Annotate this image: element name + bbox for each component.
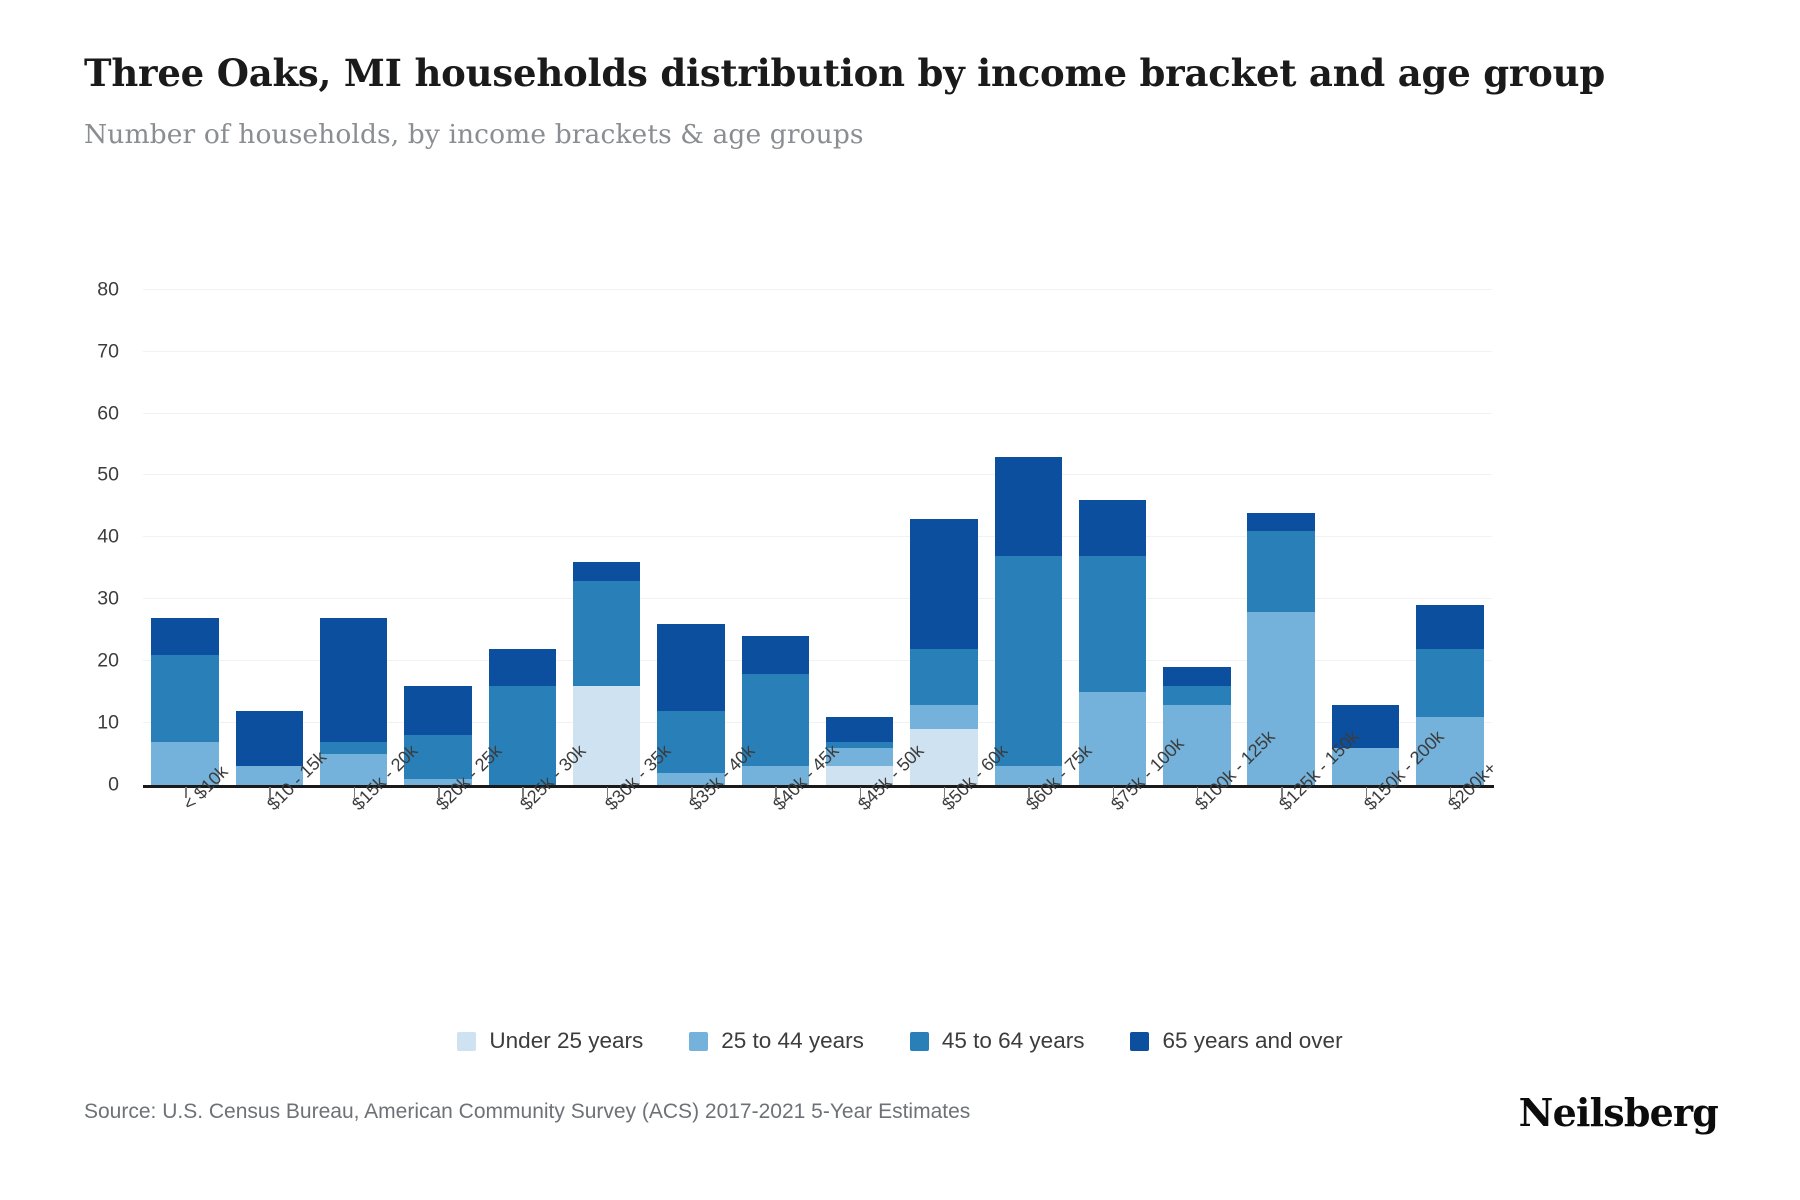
x-axis-tick-label: $50k - 60k bbox=[938, 800, 953, 815]
x-axis-tick-label: $25k - 30k bbox=[516, 800, 531, 815]
legend-label: 45 to 64 years bbox=[942, 1028, 1085, 1054]
bar-segment[interactable] bbox=[573, 562, 640, 581]
legend-item[interactable]: Under 25 years bbox=[457, 1028, 643, 1054]
x-axis-tick-label: $60k - 75k bbox=[1022, 800, 1037, 815]
bar-segment[interactable] bbox=[1247, 531, 1314, 611]
bar-segment[interactable] bbox=[1247, 513, 1314, 532]
chart-legend: Under 25 years25 to 44 years45 to 64 yea… bbox=[0, 1028, 1800, 1054]
y-axis-tick-labels: 01020304050607080 bbox=[0, 265, 135, 785]
bar-segment[interactable] bbox=[573, 581, 640, 686]
bar-segment[interactable] bbox=[1163, 686, 1230, 705]
bar-segment[interactable] bbox=[910, 519, 977, 649]
chart-subtitle: Number of households, by income brackets… bbox=[84, 119, 1704, 150]
brand-logo: Neilsberg bbox=[1519, 1090, 1718, 1135]
y-axis-tick-label: 50 bbox=[97, 464, 119, 487]
bar-segment[interactable] bbox=[151, 618, 218, 655]
bar-segment[interactable] bbox=[320, 742, 387, 754]
legend-swatch-icon bbox=[457, 1032, 476, 1051]
bar-segment[interactable] bbox=[910, 649, 977, 705]
bar-group[interactable] bbox=[1079, 500, 1146, 785]
x-axis-tick-label: $40k - 45k bbox=[769, 800, 784, 815]
legend-swatch-icon bbox=[1130, 1032, 1149, 1051]
bar-segment[interactable] bbox=[826, 742, 893, 748]
legend-swatch-icon bbox=[910, 1032, 929, 1051]
bar-segment[interactable] bbox=[657, 711, 724, 773]
y-axis-tick-label: 30 bbox=[97, 588, 119, 611]
bar-segment[interactable] bbox=[826, 717, 893, 742]
y-axis-tick-label: 80 bbox=[97, 278, 119, 301]
bar-segment[interactable] bbox=[1416, 649, 1483, 717]
bar-segment[interactable] bbox=[742, 636, 809, 673]
source-note: Source: U.S. Census Bureau, American Com… bbox=[84, 1100, 970, 1124]
x-axis-tick-label: $45k - 50k bbox=[854, 800, 869, 815]
bar-group[interactable] bbox=[1163, 667, 1230, 785]
bar-group[interactable] bbox=[151, 618, 218, 785]
x-axis-tick-labels: < $10k$10 - 15k$15k - 20k$20k - 25k$25k … bbox=[143, 800, 1494, 920]
y-axis-tick-label: 0 bbox=[108, 774, 119, 797]
x-axis-tick-label: $35k - 40k bbox=[685, 800, 700, 815]
x-axis-tick-label: $15k - 20k bbox=[348, 800, 363, 815]
bar-segment[interactable] bbox=[320, 618, 387, 742]
legend-item[interactable]: 45 to 64 years bbox=[910, 1028, 1085, 1054]
y-axis-tick-label: 10 bbox=[97, 712, 119, 735]
y-axis-tick-label: 40 bbox=[97, 526, 119, 549]
bar-segment[interactable] bbox=[404, 686, 471, 736]
x-axis-tick-label: $10 - 15k bbox=[263, 800, 278, 815]
bar-group[interactable] bbox=[489, 649, 556, 785]
bar-series-container bbox=[143, 265, 1492, 785]
bar-segment[interactable] bbox=[995, 556, 1062, 766]
legend-swatch-icon bbox=[689, 1032, 708, 1051]
bar-segment[interactable] bbox=[1079, 556, 1146, 692]
legend-label: Under 25 years bbox=[489, 1028, 643, 1054]
x-axis-tick-label: $200k+ bbox=[1444, 800, 1459, 815]
bar-segment[interactable] bbox=[995, 457, 1062, 556]
bar-group[interactable] bbox=[320, 618, 387, 785]
x-axis-tick-label: $20k - 25k bbox=[432, 800, 447, 815]
bar-group[interactable] bbox=[742, 636, 809, 785]
bar-segment[interactable] bbox=[657, 624, 724, 711]
bar-segment[interactable] bbox=[151, 655, 218, 742]
y-axis-tick-label: 20 bbox=[97, 650, 119, 673]
bar-group[interactable] bbox=[910, 519, 977, 785]
x-axis-tick-label: $30k - 35k bbox=[601, 800, 616, 815]
x-axis-tick-label: < $10k bbox=[179, 800, 194, 815]
page-title: Three Oaks, MI households distribution b… bbox=[84, 50, 1654, 97]
y-axis-tick-label: 60 bbox=[97, 402, 119, 425]
bar-segment[interactable] bbox=[489, 649, 556, 686]
bar-segment[interactable] bbox=[1079, 500, 1146, 556]
legend-item[interactable]: 65 years and over bbox=[1130, 1028, 1342, 1054]
x-axis-tick-label: $150k - 200k bbox=[1360, 800, 1375, 815]
bar-segment[interactable] bbox=[910, 705, 977, 730]
plot-area bbox=[143, 265, 1492, 785]
bar-segment[interactable] bbox=[236, 711, 303, 767]
chart-page: Three Oaks, MI households distribution b… bbox=[0, 0, 1800, 1200]
y-axis-tick-label: 70 bbox=[97, 340, 119, 363]
legend-item[interactable]: 25 to 44 years bbox=[689, 1028, 864, 1054]
bar-segment[interactable] bbox=[1163, 667, 1230, 686]
chart-header: Three Oaks, MI households distribution b… bbox=[84, 50, 1704, 150]
x-axis-tick-label: $100k - 125k bbox=[1191, 800, 1206, 815]
legend-label: 65 years and over bbox=[1162, 1028, 1342, 1054]
bar-group[interactable] bbox=[995, 284, 1062, 785]
legend-label: 25 to 44 years bbox=[721, 1028, 864, 1054]
x-axis-tick-label: $125k - 150k bbox=[1275, 800, 1290, 815]
x-axis-tick-label: $75k - 100k bbox=[1107, 800, 1122, 815]
bar-segment[interactable] bbox=[1416, 605, 1483, 648]
